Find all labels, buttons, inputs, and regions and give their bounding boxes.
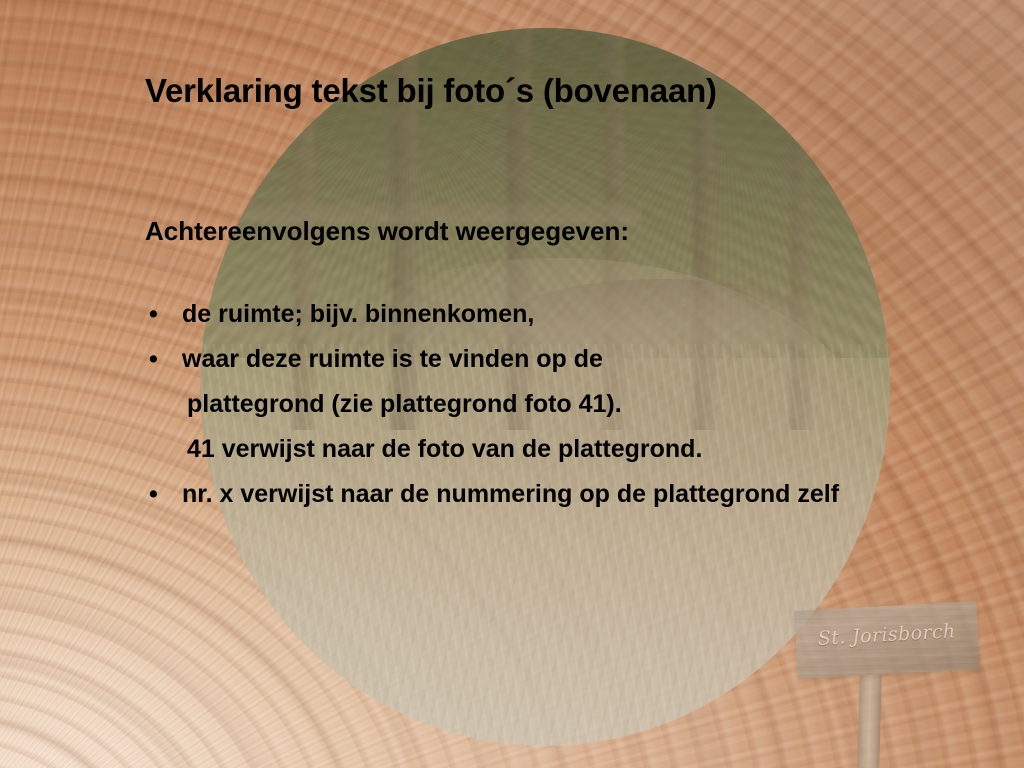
bullet-marker-icon: •: [145, 474, 182, 514]
bullet-list: • de ruimte; bijv. binnenkomen, • waar d…: [145, 294, 995, 519]
list-item: • de ruimte; bijv. binnenkomen,: [145, 294, 995, 339]
list-item-label: nr. x verwijst naar de nummering op de p…: [182, 474, 839, 514]
presentation-slide: Verklaring tekst bij foto´s (bovenaan) A…: [0, 0, 1024, 768]
page-title: Verklaring tekst bij foto´s (bovenaan): [145, 72, 717, 110]
list-item: • waar deze ruimte is te vinden op de: [145, 339, 995, 384]
list-item: • nr. x verwijst naar de nummering op de…: [145, 474, 995, 519]
list-item-label: plattegrond (zie plattegrond foto 41).: [182, 384, 622, 424]
signpost-board: St. Jorisborch: [794, 601, 980, 679]
bullet-marker-icon: •: [145, 294, 182, 334]
signpost-pole: [857, 668, 882, 768]
list-item-label: waar deze ruimte is te vinden op de: [182, 339, 603, 379]
list-item-label: de ruimte; bijv. binnenkomen,: [182, 294, 534, 334]
bullet-marker-icon: •: [145, 339, 182, 379]
list-item-continuation: plattegrond (zie plattegrond foto 41).: [145, 384, 995, 429]
list-item-label: 41 verwijst naar de foto van de plattegr…: [182, 429, 702, 469]
wooden-signpost: St. Jorisborch: [790, 596, 1024, 768]
slide-subtitle: Achtereenvolgens wordt weergegeven:: [145, 216, 629, 247]
list-item-continuation: 41 verwijst naar de foto van de plattegr…: [145, 429, 995, 474]
